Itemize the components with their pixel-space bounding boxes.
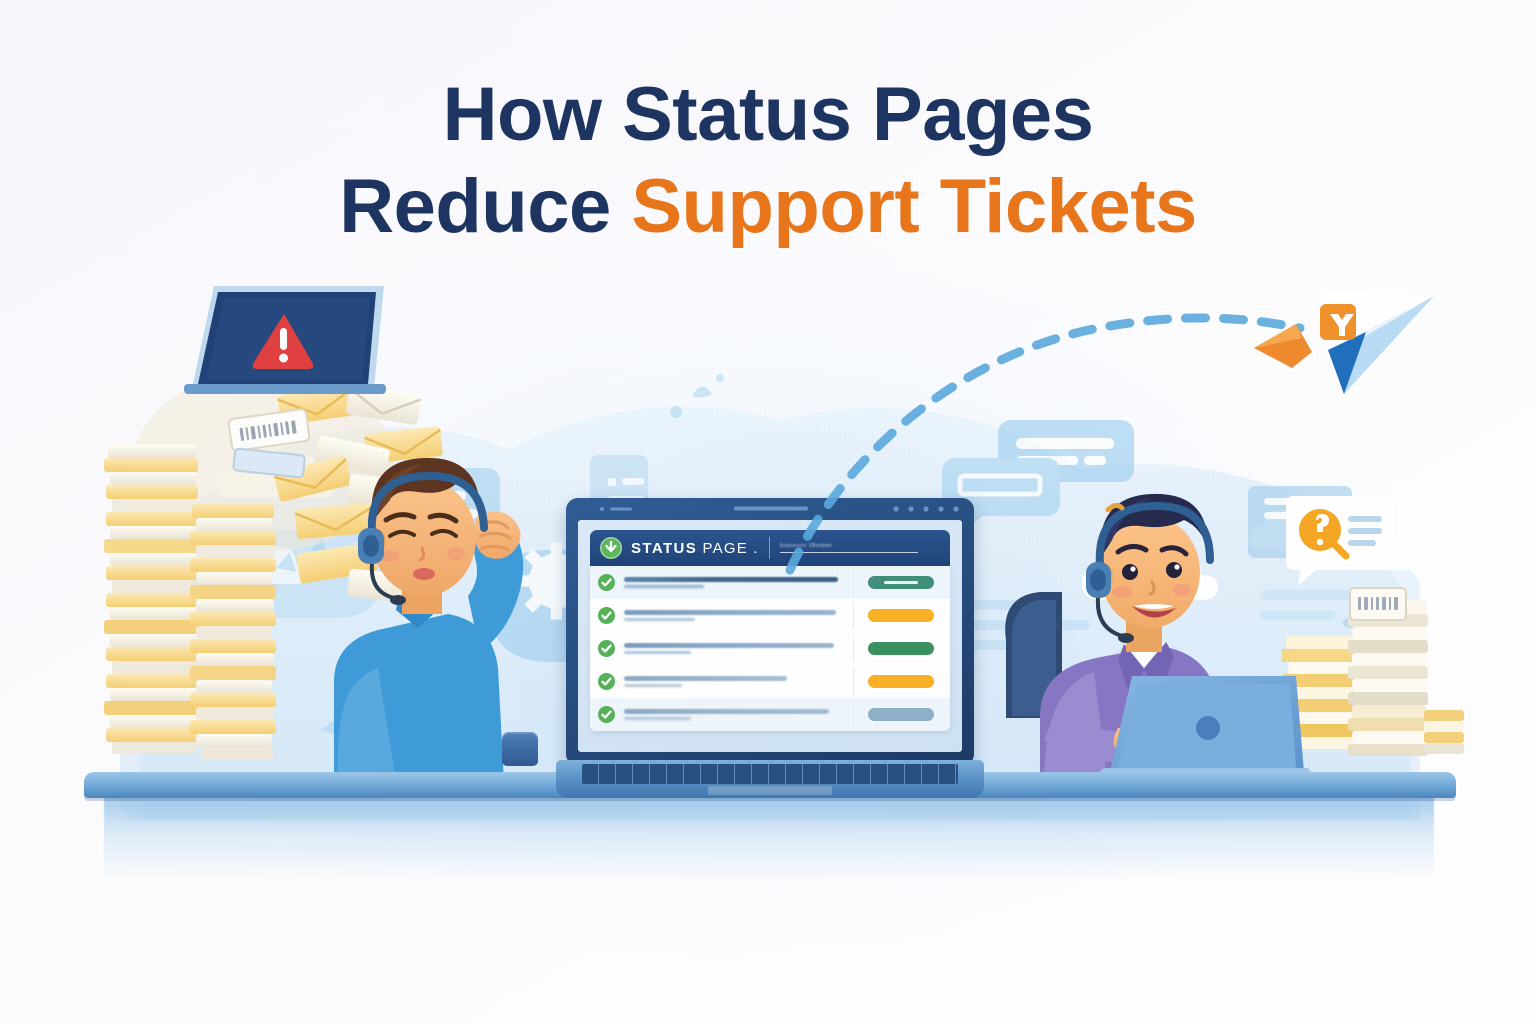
status-page-brand: STATUS PAGE .	[631, 540, 759, 557]
laptop-keyboard	[582, 764, 958, 784]
brand-light: PAGE .	[697, 540, 758, 557]
table-row[interactable]	[590, 698, 950, 731]
row-text-placeholder	[624, 643, 847, 654]
status-row-list	[590, 566, 950, 731]
status-badge	[868, 642, 934, 655]
desk-reflection	[104, 796, 1434, 880]
mouse-device	[502, 732, 538, 766]
row-divider	[853, 702, 854, 728]
status-pill-cell	[860, 609, 942, 622]
ticket-stack-small	[1282, 588, 1464, 756]
brand-bold: STATUS	[631, 540, 697, 557]
title-line-1: How Status Pages	[0, 76, 1536, 154]
title-line-2: Reduce Support Tickets	[0, 168, 1536, 246]
download-circle-icon	[600, 537, 622, 559]
check-circle-icon	[598, 574, 615, 591]
table-row[interactable]	[590, 632, 950, 665]
table-row[interactable]	[590, 599, 950, 632]
illustration-canvas: STATUS PAGE . Sxanxuoxr 2Bxobwn	[0, 0, 1536, 1024]
check-circle-icon	[598, 706, 615, 723]
title-line-2-orange: Support Tickets	[631, 164, 1196, 249]
status-badge	[868, 708, 934, 721]
laptop-trackpad	[708, 786, 832, 795]
status-pill-cell	[860, 708, 942, 721]
page-title: How Status Pages Reduce Support Tickets	[0, 76, 1536, 245]
status-badge	[868, 609, 934, 622]
table-row[interactable]	[590, 665, 950, 698]
status-badge	[868, 675, 934, 688]
check-circle-icon	[598, 673, 615, 690]
row-text-placeholder	[624, 709, 847, 720]
check-circle-icon	[598, 640, 615, 657]
status-pill-cell	[860, 642, 942, 655]
row-divider	[853, 603, 854, 629]
row-divider	[853, 669, 854, 695]
overwhelmed-agent-scene	[84, 352, 554, 780]
row-divider	[853, 636, 854, 662]
row-text-placeholder	[624, 610, 847, 621]
check-circle-icon	[598, 607, 615, 624]
row-text-placeholder	[624, 676, 847, 687]
header-divider	[769, 537, 770, 559]
status-pill-cell	[860, 675, 942, 688]
laptop-base	[556, 760, 984, 798]
tickets-label	[1350, 588, 1406, 620]
title-line-2-navy: Reduce	[339, 164, 631, 249]
paper-plane-icon	[1224, 284, 1444, 414]
alert-laptop	[180, 276, 390, 394]
